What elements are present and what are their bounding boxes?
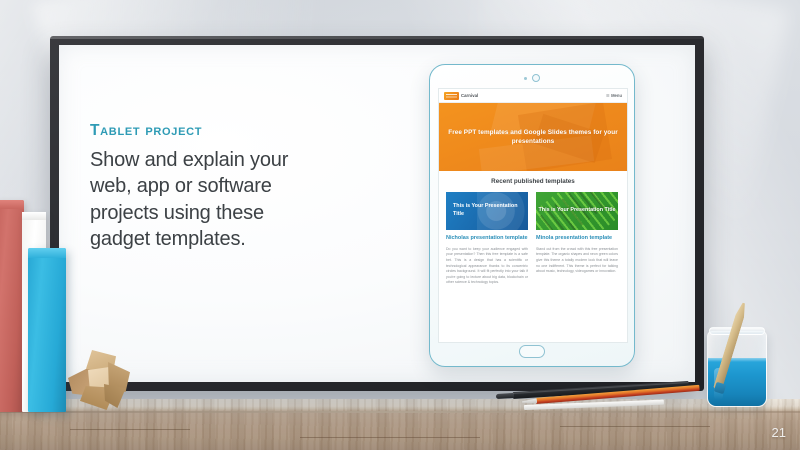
tablet-screen: Carnival ☰ Menu Free PPT templates and G…: [438, 88, 628, 343]
desk-crack: [70, 429, 190, 430]
wooden-polyhedron: [68, 350, 130, 410]
list-item[interactable]: This is Your Presentation Title Nicholas…: [446, 192, 528, 286]
template-card-list: This is Your Presentation Title Nicholas…: [446, 192, 620, 286]
hero-banner: Free PPT templates and Google Slides the…: [439, 103, 627, 171]
site-header: Carnival ☰ Menu: [439, 89, 627, 103]
glass-jar: [707, 323, 767, 407]
template-thumbnail-green[interactable]: This is Your Presentation Title: [536, 192, 618, 230]
desk-crack: [560, 426, 710, 427]
site-logo[interactable]: Carnival: [444, 92, 478, 100]
template-thumbnail-blue[interactable]: This is Your Presentation Title: [446, 192, 528, 230]
slide-body-text: Show and explain your web, app or softwa…: [90, 147, 320, 253]
thumbnail-title: This is Your Presentation Title: [453, 203, 528, 218]
book-red: [0, 200, 24, 412]
thumbnail-title: This is Your Presentation Title: [539, 207, 616, 215]
jar-body: [707, 331, 767, 407]
section-heading: Recent published templates: [446, 178, 620, 185]
page-title: Tablet project: [90, 122, 320, 139]
menu-button-label: Menu: [611, 93, 622, 98]
tablet-device: Carnival ☰ Menu Free PPT templates and G…: [429, 64, 635, 367]
tablet-home-button[interactable]: [519, 345, 545, 358]
desk-crack: [300, 437, 480, 438]
template-title-link[interactable]: Minola presentation template: [536, 235, 618, 243]
site-content: Recent published templates This is Your …: [439, 171, 627, 286]
hero-headline: Free PPT templates and Google Slides the…: [439, 128, 627, 147]
page-number: 21: [772, 425, 786, 440]
site-logo-text: Carnival: [461, 93, 478, 98]
slides-carnival-logo-icon: [444, 92, 459, 100]
book-cyan: [28, 248, 66, 412]
template-description: Stand out from the crowd with this free …: [536, 247, 618, 275]
tablet-sensor-row: [524, 74, 540, 82]
slide-text-block: Tablet project Show and explain your web…: [90, 122, 320, 253]
desk-front-edge: [0, 411, 800, 413]
template-description: Do you want to keep your audience engage…: [446, 247, 528, 286]
camera-lens-icon: [532, 74, 540, 82]
template-title-link[interactable]: Nicholas presentation template: [446, 235, 528, 243]
speaker-dot-icon: [524, 77, 527, 80]
list-item[interactable]: This is Your Presentation Title Minola p…: [536, 192, 618, 286]
menu-button[interactable]: ☰ Menu: [606, 93, 622, 98]
hamburger-menu-icon: ☰: [606, 94, 610, 98]
